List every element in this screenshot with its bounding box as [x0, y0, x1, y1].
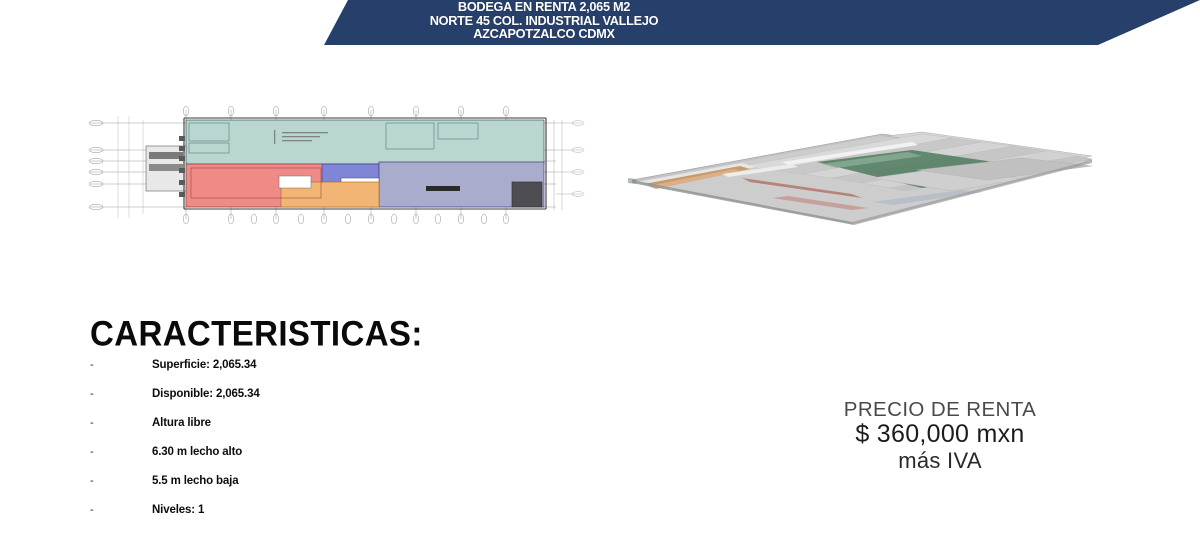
header-line-3: AZCAPOTZALCO CDMX	[0, 28, 1099, 42]
warehouse-3d-render	[622, 122, 1100, 234]
header-banner: BODEGA EN RENTA 2,065 M2 NORTE 45 COL. I…	[0, 0, 1200, 45]
price-amount: $ 360,000 mxn	[790, 421, 1090, 448]
characteristic-superficie: Superficie: 2,065.34	[152, 359, 256, 372]
bullet-dash: -	[90, 388, 152, 400]
bullet-dash: -	[90, 475, 152, 487]
characteristics-section: CARACTERISTICAS: - Superficie: 2,065.34 …	[90, 316, 610, 533]
bullet-dash: -	[90, 359, 152, 371]
price-tax-note: más IVA	[790, 448, 1090, 474]
characteristic-lecho-alto: 6.30 m lecho alto	[152, 446, 242, 459]
header-line-2: NORTE 45 COL. INDUSTRIAL VALLEJO	[0, 15, 1099, 29]
list-item: - Disponible: 2,065.34	[90, 388, 610, 417]
list-item: - Altura libre	[90, 417, 610, 446]
header-line-1: BODEGA EN RENTA 2,065 M2	[0, 1, 1099, 15]
characteristic-altura-libre: Altura libre	[152, 417, 211, 430]
characteristic-lecho-bajo: 5.5 m lecho baja	[152, 475, 238, 488]
bullet-dash: -	[90, 504, 152, 516]
bullet-dash: -	[90, 446, 152, 458]
characteristics-title: CARACTERISTICAS:	[90, 316, 610, 352]
floor-plan-image	[86, 106, 588, 224]
list-item: - Superficie: 2,065.34	[90, 359, 610, 388]
price-label: PRECIO DE RENTA	[790, 398, 1090, 421]
header-title-group: BODEGA EN RENTA 2,065 M2 NORTE 45 COL. I…	[0, 1, 1200, 42]
list-item: - Niveles: 1	[90, 504, 610, 533]
characteristic-niveles: Niveles: 1	[152, 504, 204, 517]
price-block: PRECIO DE RENTA $ 360,000 mxn más IVA	[790, 398, 1090, 474]
list-item: - 6.30 m lecho alto	[90, 446, 610, 475]
bullet-dash: -	[90, 417, 152, 429]
characteristic-disponible: Disponible: 2,065.34	[152, 388, 260, 401]
list-item: - 5.5 m lecho baja	[90, 475, 610, 504]
